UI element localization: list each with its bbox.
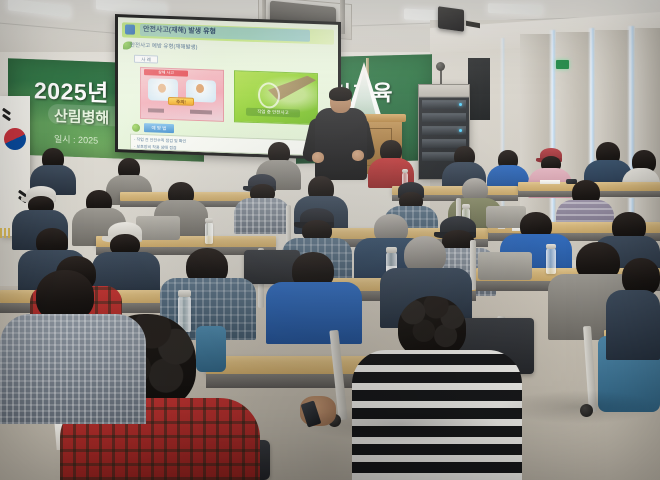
banner-left-line3: 일시 : 2025 xyxy=(54,132,98,147)
presenter-body xyxy=(315,108,367,180)
window-light-gap xyxy=(549,30,556,236)
slide-image-left-badge: 주의! xyxy=(168,97,194,106)
bottle-cap xyxy=(386,247,397,253)
window-light-gap xyxy=(627,26,635,236)
water-bottle xyxy=(205,222,213,244)
caption-line xyxy=(190,110,212,115)
audience-torso xyxy=(266,282,362,344)
audience-torso xyxy=(234,198,290,234)
exit-sign-icon xyxy=(556,60,569,69)
foreground-person-torso xyxy=(0,314,146,424)
wall-speaker-icon xyxy=(438,6,464,32)
window-blind-panel xyxy=(520,34,552,234)
slide-method-button: 예 방 법 xyxy=(144,123,174,133)
slide-header-marker-icon xyxy=(125,24,135,34)
floor-shadow xyxy=(500,390,660,424)
slide-bullet-icon xyxy=(132,124,140,132)
bottle-cap xyxy=(205,218,213,223)
paper-handout xyxy=(540,180,560,184)
bottle-cap xyxy=(178,290,191,297)
slide-method-label: 예 방 법 xyxy=(144,123,174,133)
chair-back[interactable] xyxy=(136,216,180,240)
foreground-person-head xyxy=(398,296,466,358)
slide-tag: 사 례 xyxy=(134,55,158,64)
projection-screen: 안전사고(재해) 발생 유형 안전사고 예방 유형(재해발생) 사 례 상해 사… xyxy=(118,17,338,157)
lecture-hall-photo: 2025년 산림 산림병해 일시 : 2025 보건교육 안전사고(재해) 발생… xyxy=(0,0,660,480)
floor-shadow xyxy=(300,406,500,442)
presenter-hair xyxy=(329,87,352,101)
chair-back[interactable] xyxy=(196,326,226,372)
presenter-hand xyxy=(352,150,364,161)
slide-subtitle-wrap: 안전사고 예방 유형(재해발생) xyxy=(130,42,280,56)
cartoon-head xyxy=(158,84,166,93)
slide-tag-label: 사 례 xyxy=(135,56,157,65)
rack-unit xyxy=(422,113,466,122)
slide-subtitle: 안전사고 예방 유형(재해발생) xyxy=(130,42,280,56)
bottle-cap xyxy=(402,169,408,173)
doorway xyxy=(468,58,490,120)
foreground-person-torso xyxy=(606,290,660,360)
microphone-icon xyxy=(436,62,445,71)
rack-status-led xyxy=(459,103,462,106)
flag-trigram xyxy=(2,114,11,122)
caption-line xyxy=(148,108,164,113)
window-blind-panel xyxy=(635,28,660,234)
chair-back[interactable] xyxy=(478,252,532,280)
water-bottle xyxy=(546,248,556,274)
cartoon-head xyxy=(196,84,204,93)
bottle-cap xyxy=(462,204,470,209)
banner-left-line2: 산림병해 xyxy=(54,105,109,128)
bottle-cap xyxy=(546,244,556,249)
badge-label: 주의! xyxy=(169,98,193,107)
slide-photo-highlight-circle xyxy=(258,82,280,109)
ceiling-light-panel xyxy=(488,3,542,15)
rack-status-led xyxy=(459,129,462,132)
presenter-hand xyxy=(312,152,324,163)
